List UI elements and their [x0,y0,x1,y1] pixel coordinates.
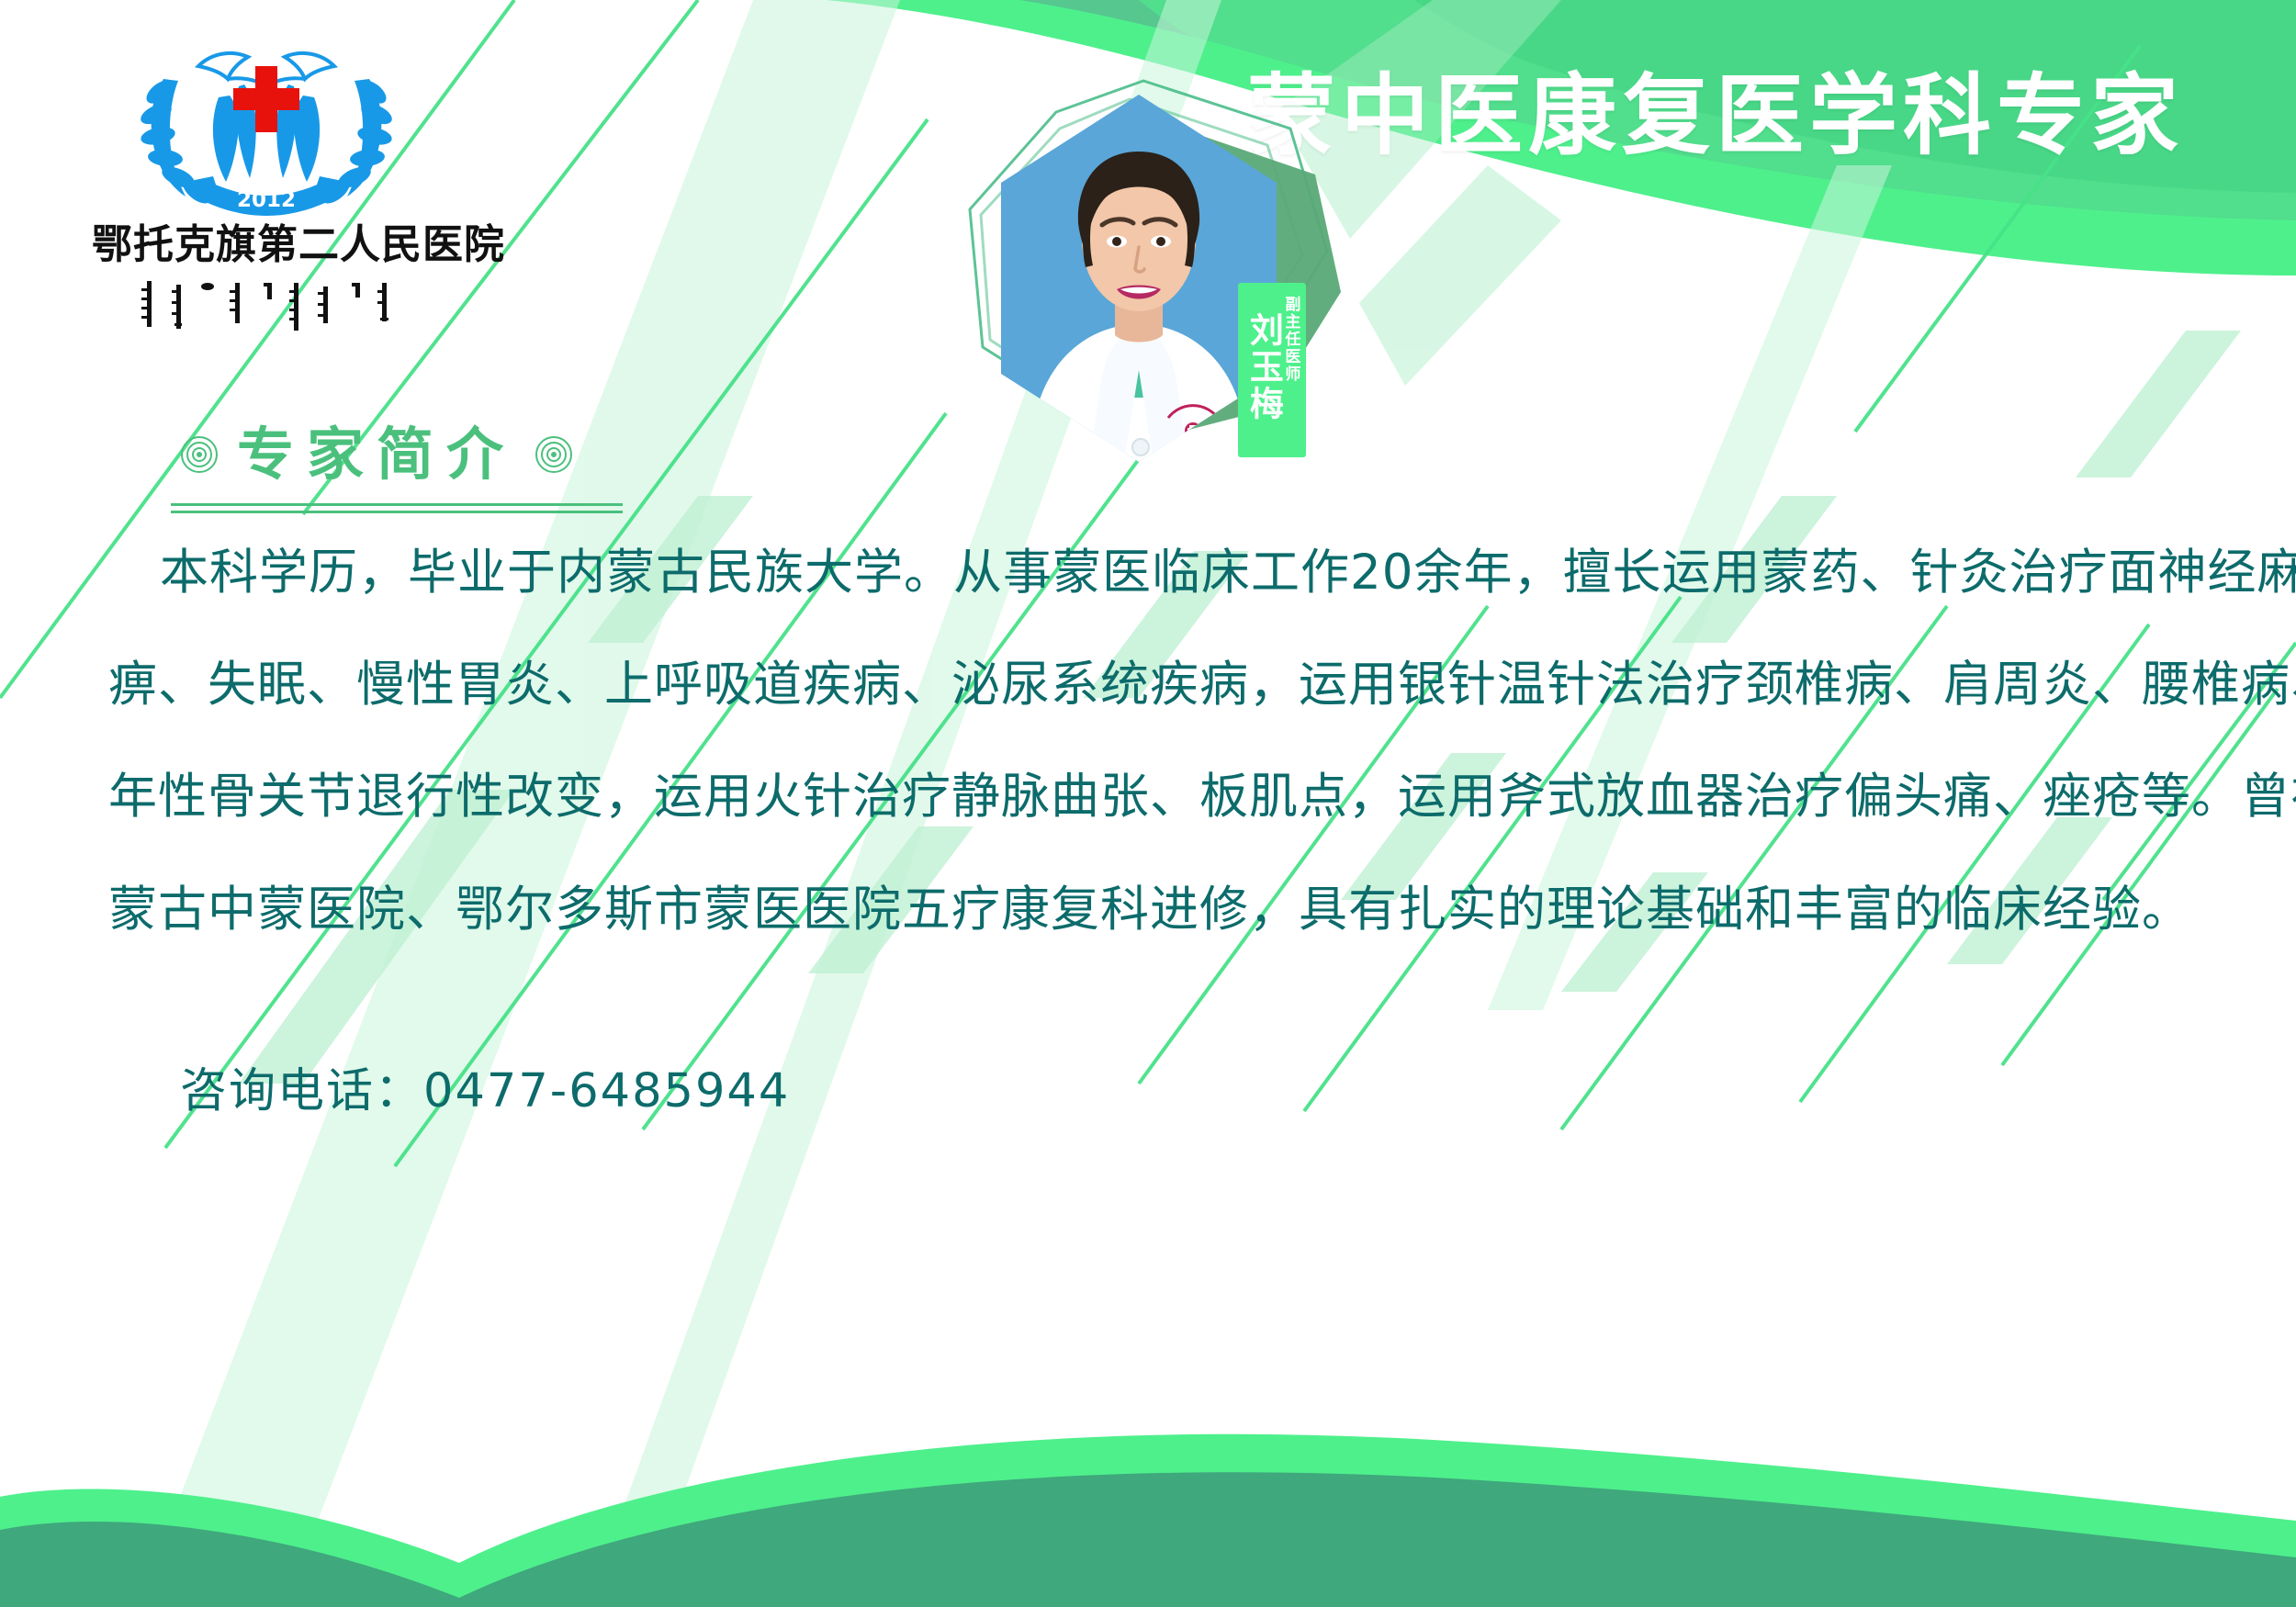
logo-year: 2012 [237,188,296,212]
section-underline [171,503,623,513]
poster-canvas: 2012 鄂托克旗第二人民医院 蒙中医康复医学科专家 [0,0,2296,1607]
bio-paragraph: 本科学历，毕业于内蒙古民族大学。从事蒙医临床工作20余年，擅长运用蒙药、针灸治疗… [108,547,2193,599]
hospital-logo-block: 2012 鄂托克旗第二人民医院 [92,26,441,333]
hospital-emblem-icon: 2012 [110,26,422,223]
page-title: 蒙中医康复医学科专家 [1247,72,2184,160]
concentric-circles-icon [535,435,573,474]
bio-paragraph: 痹、失眠、慢性胃炎、上呼吸道疾病、泌尿系统疾病，运用银针温针法治疗颈椎病、肩周炎… [108,659,2193,711]
section-title: 专家简介 [237,426,516,483]
doctor-role: 副主任医师 [1282,296,1298,383]
doctor-name: 刘玉梅 [1246,312,1281,422]
concentric-circles-icon [180,435,219,474]
hospital-name-mongolian [92,278,441,333]
contact-phone: 咨询电话：0477-6485944 [180,1052,790,1120]
hospital-name-cn: 鄂托克旗第二人民医院 [92,225,441,265]
bio-paragraph: 年性骨关节退行性改变，运用火针治疗静脉曲张、板肌点，运用斧式放血器治疗偏头痛、痤… [108,771,2193,823]
footer-wave-decoration [0,1433,2296,1607]
doctor-name-panel: 副主任医师 刘玉梅 [1238,283,1306,457]
doctor-portrait-block: 副主任医师 刘玉梅 [946,72,1378,522]
bio-text-block: 本科学历，毕业于内蒙古民族大学。从事蒙医临床工作20余年，擅长运用蒙药、针灸治疗… [108,547,2193,996]
bio-paragraph: 蒙古中蒙医院、鄂尔多斯市蒙医医院五疗康复科进修，具有扎实的理论基础和丰富的临床经… [108,884,2193,936]
section-heading-block: 专家简介 [180,415,658,527]
